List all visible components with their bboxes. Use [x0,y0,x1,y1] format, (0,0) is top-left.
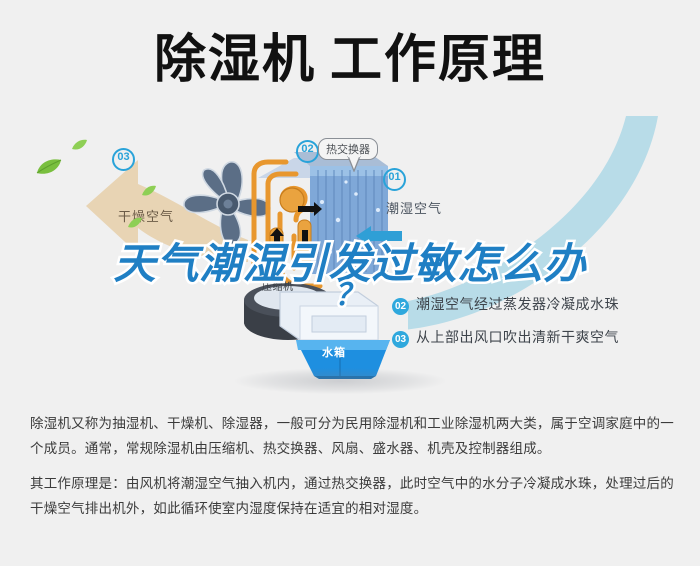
step-text: 潮湿空气经过蒸发器冷凝成水珠 [416,296,619,314]
dehumidifier-machine-graphic [240,144,400,379]
page-title-part-b: 工作原理 [330,30,546,90]
leaf-icon [128,216,143,234]
badge-02-heat-exchanger: 02 [296,140,319,163]
list-item: 02 潮湿空气经过蒸发器冷凝成水珠 [392,296,692,315]
machine-shadow [235,368,445,394]
paragraph-1: 除湿机又称为抽湿机、干燥机、除湿器，一般可分为民用除湿机和工业除湿机两大类，属于… [30,412,676,462]
step-badge: 02 [392,298,409,315]
poster-root: 除湿机工作原理 干燥空气 03 [0,0,700,566]
dry-air-label: 干燥空气 [118,206,174,225]
humid-air-label: 潮湿空气 [386,198,442,217]
callout-pointer-icon [346,156,362,177]
page-title: 除湿机工作原理 [0,0,700,120]
leaf-icon [36,158,62,181]
step-text: 从上部出风口吹出清新干爽空气 [416,329,619,347]
paragraph-2: 其工作原理是：由风机将潮湿空气抽入机内，通过热交换器，此时空气中的水分子冷凝成水… [30,472,676,522]
step-list: 02 潮湿空气经过蒸发器冷凝成水珠 03 从上部出风口吹出清新干爽空气 [392,296,692,362]
badge-01-humid-air: 01 [383,168,406,191]
leaf-icon [142,184,157,202]
step-badge: 03 [392,331,409,348]
list-item: 03 从上部出风口吹出清新干爽空气 [392,329,692,348]
body-copy: 除湿机又称为抽湿机、干燥机、除湿器，一般可分为民用除湿机和工业除湿机两大类，属于… [30,412,676,532]
badge-03-dry-air: 03 [112,148,135,171]
humid-air-arrow-icon [355,226,403,251]
leaf-icon [72,138,88,156]
compressor-label: 压缩机 [262,278,294,293]
page-title-part-a: 除湿机 [154,30,316,90]
water-tank-label: 水箱 [322,344,346,360]
